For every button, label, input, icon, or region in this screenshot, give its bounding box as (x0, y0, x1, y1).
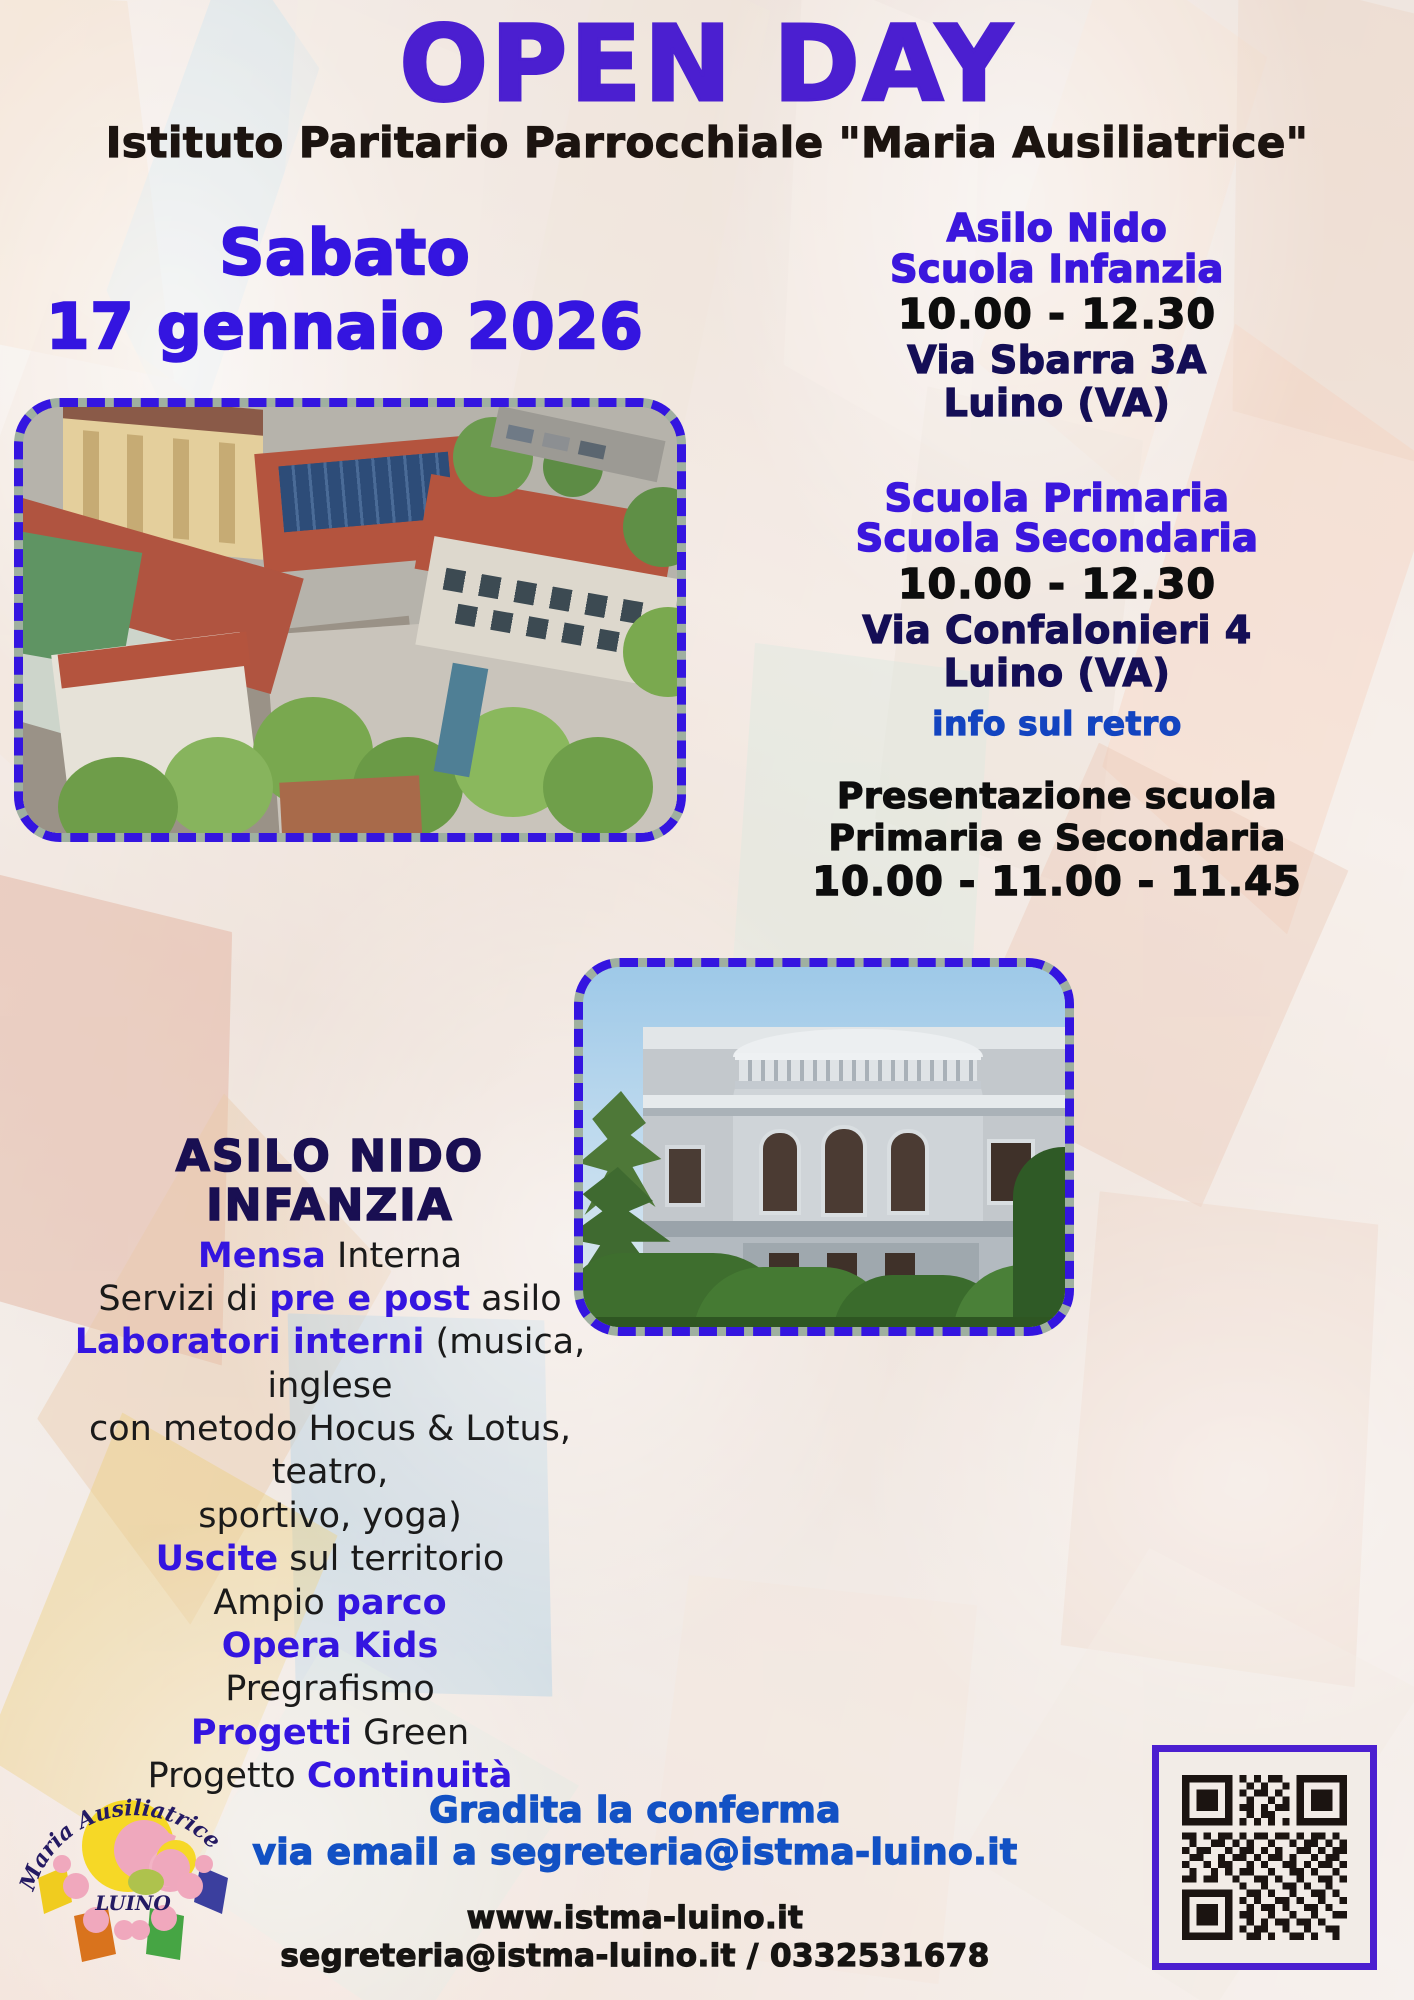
feature-line: Laboratori interni (musica, inglese (30, 1321, 630, 1408)
feature-keyword: parco (336, 1583, 447, 1623)
school-name-line1: Asilo Nido (700, 208, 1414, 249)
feature-line: Servizi di pre e post asilo (30, 1278, 630, 1321)
school-name-line1: Scuola Primaria (700, 478, 1414, 519)
presentation-block: Presentazione scuola Primaria e Secondar… (700, 776, 1414, 906)
feature-line: Ampio parco (30, 1582, 630, 1625)
event-date: Sabato 17 gennaio 2026 (0, 222, 690, 358)
school-block-primaria: Scuola Primaria Scuola Secondaria 10.00 … (700, 478, 1414, 742)
school-address-line2: Luino (VA) (700, 653, 1414, 694)
school-address-line1: Via Sbarra 3A (700, 340, 1414, 381)
spacer (700, 742, 1414, 776)
feature-line: Pregrafismo (30, 1668, 630, 1711)
confirm-block: Gradita la conferma via email a segreter… (240, 1790, 1030, 1875)
presentation-line1: Presentazione scuola (700, 776, 1414, 818)
feature-line: con metodo Hocus & Lotus, teatro, (30, 1408, 630, 1495)
poster-root: OPEN DAY Istituto Paritario Parrocchiale… (0, 0, 1414, 2000)
photo-content (583, 967, 1065, 1327)
school-logo: Maria Ausiliatrice LUINO (8, 1740, 258, 1990)
school-block-nido: Asilo Nido Scuola Infanzia 10.00 - 12.30… (700, 208, 1414, 424)
school-name-line2: Scuola Infanzia (700, 249, 1414, 290)
features-heading-line2: INFANZIA (30, 1181, 630, 1230)
feature-line: Opera Kids (30, 1625, 630, 1668)
villa-photo (574, 958, 1074, 1336)
school-name-line2: Scuola Secondaria (700, 518, 1414, 559)
svg-text:LUINO: LUINO (94, 1891, 171, 1915)
features-block: ASILO NIDO INFANZIA Mensa InternaServizi… (30, 1132, 630, 1799)
feature-keyword: pre e post (269, 1279, 470, 1319)
page-subtitle: Istituto Paritario Parrocchiale "Maria A… (0, 120, 1414, 166)
qr-code-icon (1175, 1768, 1354, 1947)
website-link[interactable]: www.istma-luino.it (240, 1900, 1030, 1938)
presentation-line2: Primaria e Secondaria (700, 818, 1414, 860)
event-date-full: 17 gennaio 2026 (0, 296, 690, 358)
feature-keyword: Uscite (156, 1539, 278, 1579)
page-title: OPEN DAY (0, 10, 1414, 119)
schedule-column: Asilo Nido Scuola Infanzia 10.00 - 12.30… (700, 208, 1414, 906)
school-address-line2: Luino (VA) (700, 383, 1414, 424)
spacer (700, 424, 1414, 478)
feature-keyword: Laboratori interni (75, 1322, 425, 1362)
event-weekday: Sabato (0, 222, 690, 284)
confirm-line2[interactable]: via email a segreteria@istma-luino.it (240, 1832, 1030, 1874)
photo-content (23, 407, 677, 833)
school-time: 10.00 - 12.30 (700, 561, 1414, 608)
presentation-times: 10.00 - 11.00 - 11.45 (700, 859, 1414, 905)
qr-code[interactable] (1152, 1745, 1377, 1970)
school-note: info sul retro (700, 706, 1414, 742)
feature-line: Mensa Interna (30, 1235, 630, 1278)
features-list: Mensa InternaServizi di pre e post asilo… (30, 1235, 630, 1799)
aerial-school-photo (14, 398, 686, 842)
email-phone[interactable]: segreteria@istma-luino.it / 0332531678 (240, 1938, 1030, 1976)
feature-line: Uscite sul territorio (30, 1538, 630, 1581)
confirm-line1: Gradita la conferma (240, 1790, 1030, 1832)
contacts-block: www.istma-luino.it segreteria@istma-luin… (240, 1900, 1030, 1976)
feature-keyword: Opera Kids (222, 1626, 439, 1666)
school-logo-icon: Maria Ausiliatrice LUINO (8, 1740, 258, 1990)
feature-keyword: Mensa (198, 1236, 326, 1276)
feature-line: sportivo, yoga) (30, 1495, 630, 1538)
school-address-line1: Via Confalonieri 4 (700, 610, 1414, 651)
features-heading-line1: ASILO NIDO (30, 1132, 630, 1181)
school-time: 10.00 - 12.30 (700, 291, 1414, 338)
